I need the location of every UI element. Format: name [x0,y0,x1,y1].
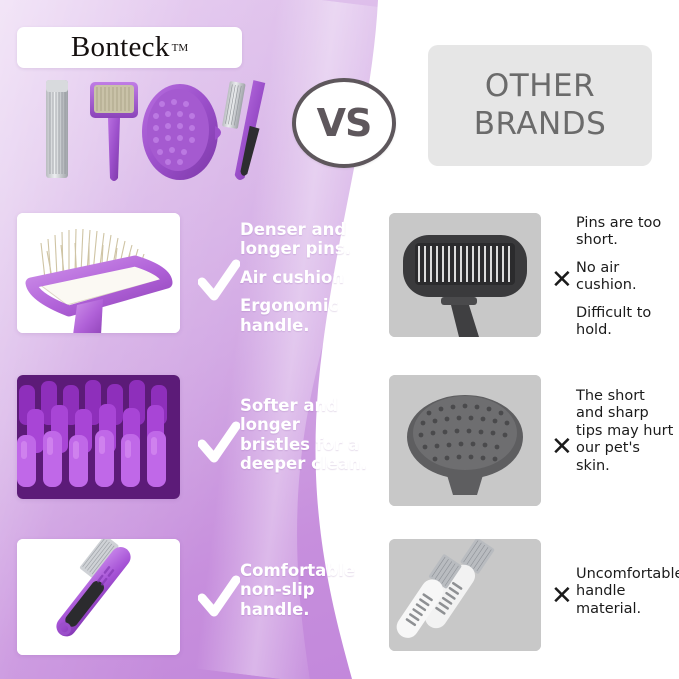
benefit-text: Ergonomic handle. [240,296,372,335]
bonteck-benefits-pins: Denser and longer pins. Air cushion Ergo… [240,220,372,335]
other-product-image-handle [389,539,541,651]
other-drawbacks-bristles: The short and sharp tips may hurt our pe… [576,388,676,475]
drawback-text: Pins are too short. [576,215,676,250]
drawback-text: Uncomfortable handle material. [576,566,676,618]
benefit-text: Denser and longer pins. [240,220,372,259]
x-icon: ✕ [551,267,573,293]
benefit-text: Air cushion [240,268,372,287]
vs-label: VS [317,104,372,142]
hero-slicker-brush [90,82,138,181]
comparison-row-handle: Comfortable non-slip handle. [0,533,679,665]
check-icon [198,574,240,620]
x-icon: ✕ [551,434,573,460]
bonteck-product-image-handle [17,539,180,655]
bonteck-product-image-pins [17,213,180,333]
brand-logo: BonteckTM [17,27,242,68]
x-icon: ✕ [551,583,573,609]
comparison-row-pins: Denser and longer pins. Air cushion Ergo… [0,205,679,353]
other-brands-header: OTHER BRANDS [428,45,652,166]
trademark-symbol: TM [172,42,189,54]
benefit-text: Comfortable non-slip handle. [240,561,372,619]
bonteck-benefits-handle: Comfortable non-slip handle. [240,561,372,619]
other-brands-line-1: OTHER [485,68,595,106]
other-product-image-pins [389,213,541,337]
check-icon [198,420,240,466]
drawback-text: No air cushion. [576,260,676,295]
bonteck-benefits-bristles: Softer and longer bristles for a deeper … [240,396,372,474]
other-drawbacks-pins: Pins are too short. No air cushion. Diff… [576,215,676,339]
hero-bath-brush [142,84,221,180]
other-brands-line-2: BRANDS [474,106,607,144]
brand-name: Bonteck [71,33,170,62]
comparison-row-bristles: Softer and longer bristles for a deeper … [0,368,679,516]
hero-product-lineup [22,74,284,194]
hero-flea-comb [222,79,265,181]
other-product-image-bristles [389,375,541,506]
benefit-text: Softer and longer bristles for a deeper … [240,396,372,474]
drawback-text: Difficult to hold. [576,305,676,340]
drawback-text: The short and sharp tips may hurt our pe… [576,388,676,475]
infographic-root: BonteckTM [0,0,679,679]
vs-badge: VS [292,78,396,168]
hero-steel-comb [46,80,68,178]
check-icon [198,258,240,304]
other-drawbacks-handle: Uncomfortable handle material. [576,566,676,618]
bonteck-product-image-bristles [17,375,180,499]
